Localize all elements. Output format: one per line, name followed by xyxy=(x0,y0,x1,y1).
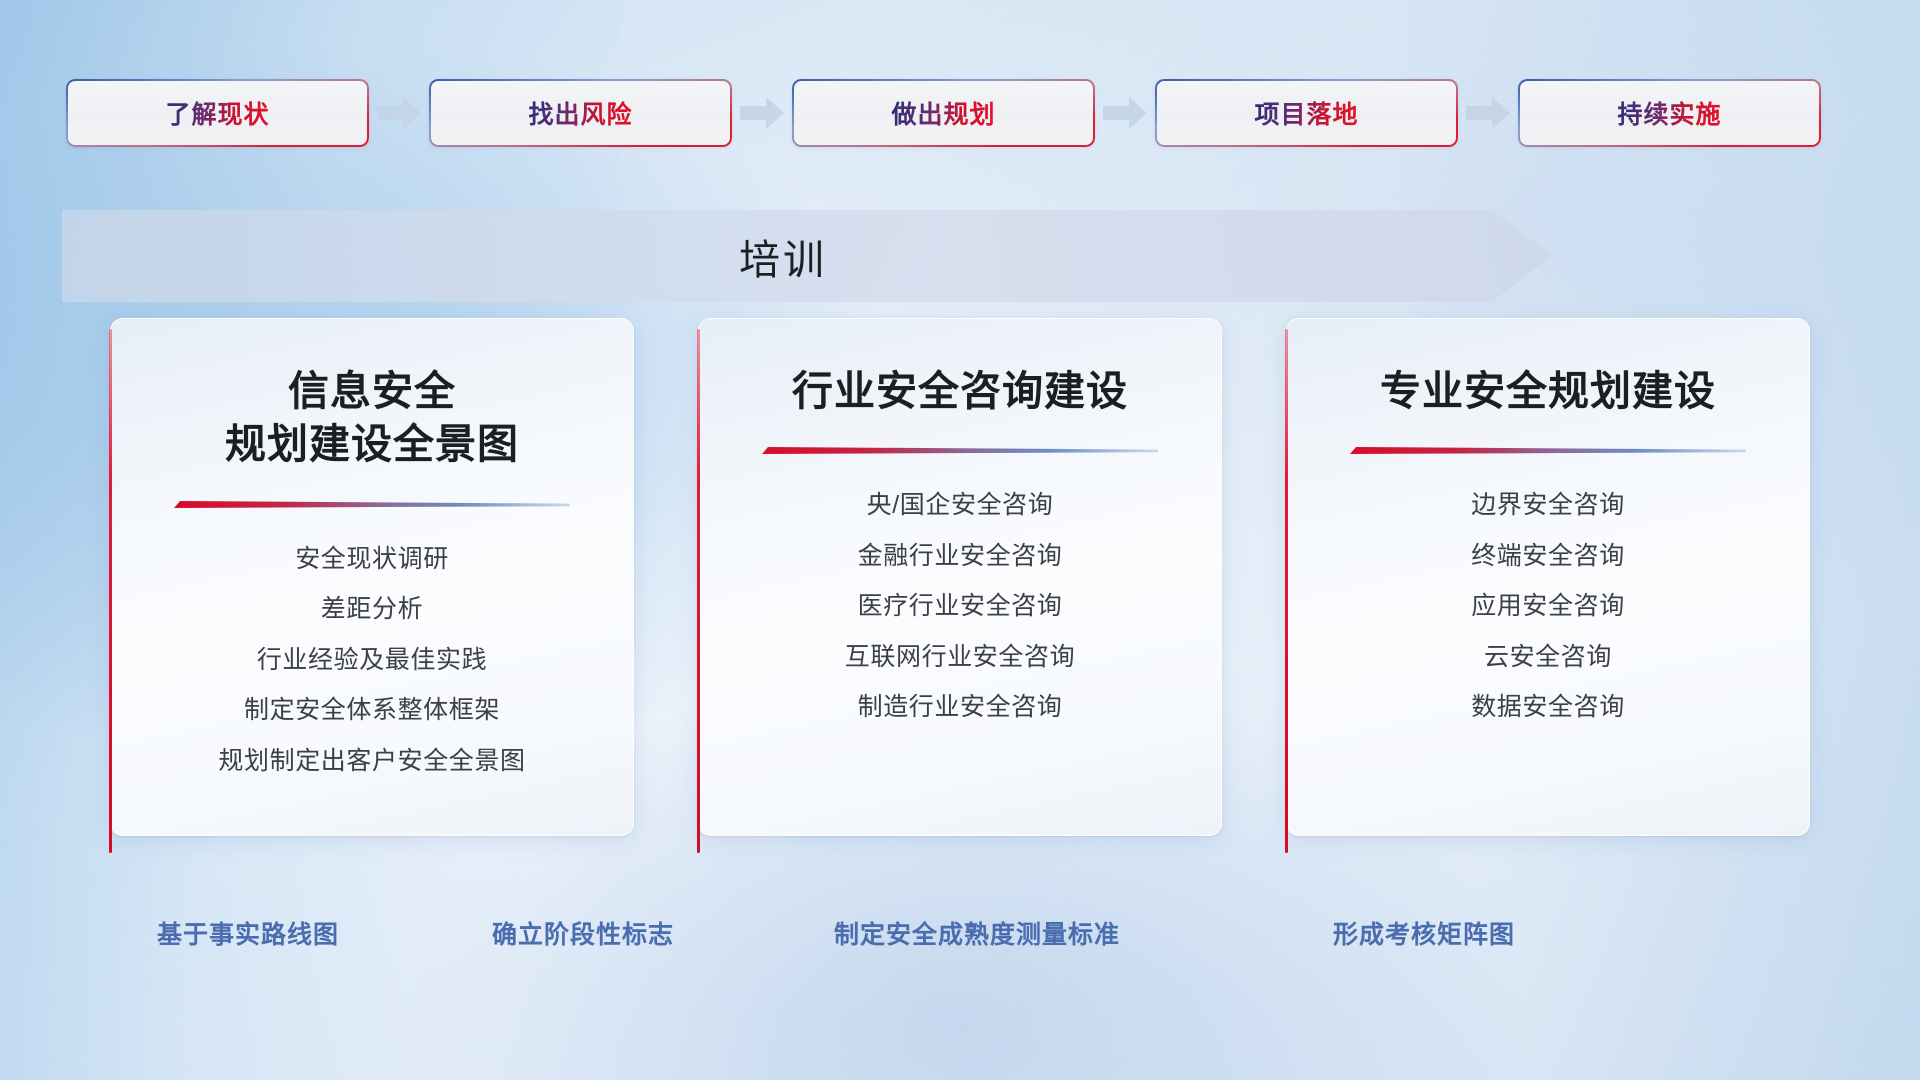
step-label: 找出风险 xyxy=(528,95,632,131)
process-step-row: 了解现状 找出风险 做出规划 项目落地 持续实施 xyxy=(66,78,1854,148)
arrow-right-icon xyxy=(732,91,792,135)
list-item: 行业经验及最佳实践 xyxy=(257,640,487,681)
caption-2: 确立阶段性标志 xyxy=(492,915,674,951)
list-item: 制定安全体系整体框架 xyxy=(244,690,500,731)
banner-title: 培训 xyxy=(62,210,1552,302)
list-item: 数据安全咨询 xyxy=(1471,687,1625,728)
step-box-2[interactable]: 找出风险 xyxy=(429,79,732,147)
card-divider xyxy=(174,498,570,511)
arrow-right-icon xyxy=(1095,91,1155,135)
card-list: 安全现状调研 差距分析 行业经验及最佳实践 制定安全体系整体框架 规划制定出客户… xyxy=(137,539,607,782)
step-box-4[interactable]: 项目落地 xyxy=(1155,79,1458,147)
caption-3: 制定安全成熟度测量标准 xyxy=(834,915,1120,951)
list-item: 制造行业安全咨询 xyxy=(858,687,1063,728)
step-box-5[interactable]: 持续实施 xyxy=(1518,79,1821,147)
arrow-right-icon xyxy=(369,91,429,135)
card-row: 信息安全 规划建设全景图 xyxy=(110,318,1810,838)
list-item: 终端安全咨询 xyxy=(1471,536,1625,577)
card-divider xyxy=(1350,444,1746,457)
card-professional-security-planning[interactable]: 专业安全规划建设 xyxy=(1286,318,1810,836)
card-title: 专业安全规划建设 xyxy=(1380,365,1716,418)
card-information-security-blueprint[interactable]: 信息安全 规划建设全景图 xyxy=(110,318,634,836)
list-item: 云安全咨询 xyxy=(1484,637,1612,678)
training-banner: 培训 xyxy=(62,210,1552,302)
step-label: 做出规划 xyxy=(891,95,995,131)
caption-row: 基于事实路线图 确立阶段性标志 制定安全成熟度测量标准 形成考核矩阵图 xyxy=(0,915,1920,961)
list-item: 边界安全咨询 xyxy=(1471,485,1625,526)
step-label: 了解现状 xyxy=(165,95,269,131)
caption-4: 形成考核矩阵图 xyxy=(1333,915,1515,951)
step-label: 项目落地 xyxy=(1254,95,1358,131)
list-item: 应用安全咨询 xyxy=(1471,586,1625,627)
caption-1: 基于事实路线图 xyxy=(157,915,339,951)
list-item: 差距分析 xyxy=(321,589,423,630)
list-item: 互联网行业安全咨询 xyxy=(845,637,1075,678)
card-list: 边界安全咨询 终端安全咨询 应用安全咨询 云安全咨询 数据安全咨询 xyxy=(1313,485,1783,728)
list-item: 央/国企安全咨询 xyxy=(867,485,1054,526)
card-divider xyxy=(762,444,1158,457)
step-box-3[interactable]: 做出规划 xyxy=(792,79,1095,147)
list-item: 规划制定出客户安全全景图 xyxy=(218,741,525,782)
list-item: 金融行业安全咨询 xyxy=(858,536,1063,577)
card-industry-security-consulting[interactable]: 行业安全咨询建设 xyxy=(698,318,1222,836)
card-list: 央/国企安全咨询 金融行业安全咨询 医疗行业安全咨询 互联网行业安全咨询 制造行… xyxy=(725,485,1195,728)
list-item: 医疗行业安全咨询 xyxy=(858,586,1063,627)
step-box-1[interactable]: 了解现状 xyxy=(66,79,369,147)
card-title: 信息安全 规划建设全景图 xyxy=(225,365,519,472)
step-label: 持续实施 xyxy=(1617,95,1721,131)
slide-canvas: 了解现状 找出风险 做出规划 项目落地 持续实施 培训 xyxy=(0,0,1920,1080)
list-item: 安全现状调研 xyxy=(295,539,449,580)
card-title: 行业安全咨询建设 xyxy=(792,365,1128,418)
arrow-right-icon xyxy=(1458,91,1518,135)
